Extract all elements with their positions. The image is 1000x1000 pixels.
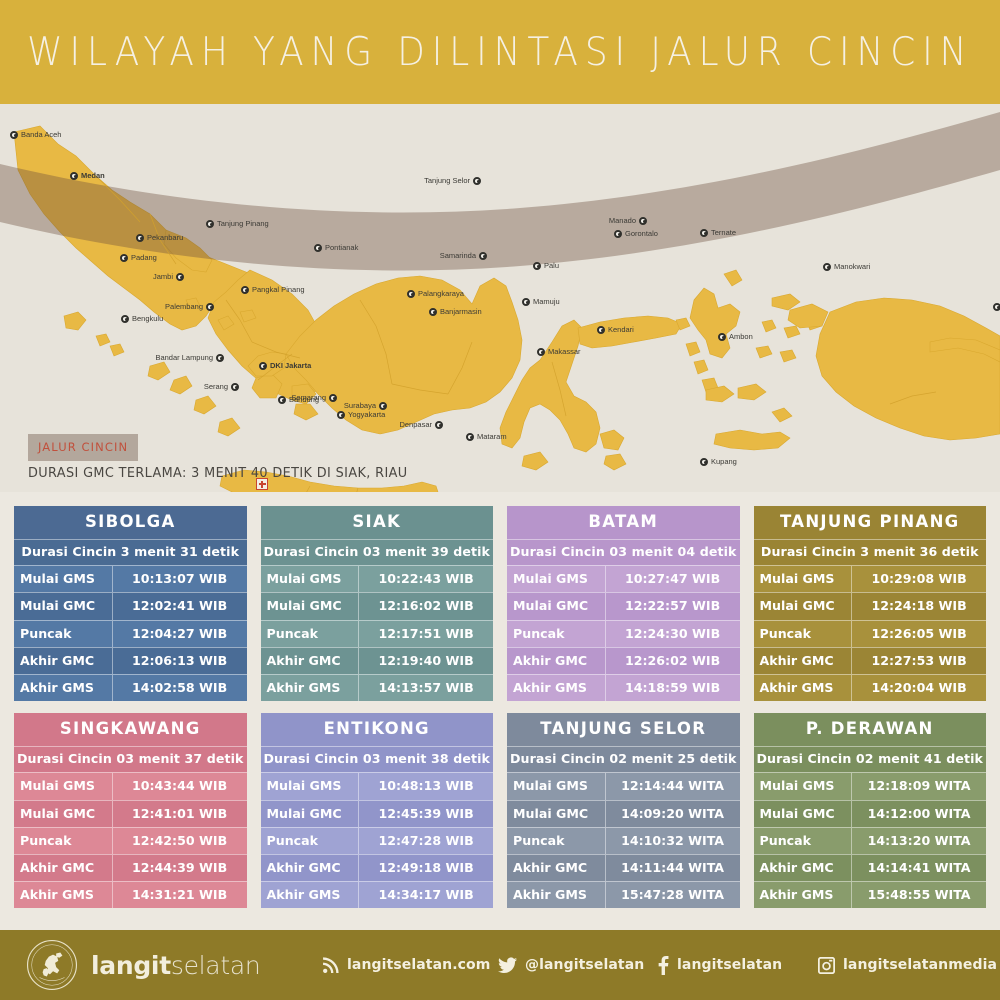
table-row: Mulai GMC12:45:39 WIB: [261, 800, 494, 827]
city-label: Samarinda: [440, 251, 476, 260]
city-marker: Medan: [70, 171, 105, 180]
row-value: 12:47:28 WIB: [358, 828, 493, 854]
city-marker: Palangkaraya: [407, 289, 464, 298]
table-row: Mulai GMS10:22:43 WIB: [261, 565, 494, 592]
map-caption: DURASI GMC TERLAMA: 3 MENIT 40 DETIK DI …: [28, 465, 408, 481]
city-dot-icon: [823, 263, 831, 271]
city-label: Surabaya: [344, 401, 376, 410]
city-dot-icon: [718, 333, 726, 341]
table-row: Akhir GMC12:44:39 WIB: [14, 854, 247, 881]
card-duration: Durasi Cincin 03 menit 38 detik: [261, 746, 494, 773]
city-label: Palangkaraya: [418, 289, 464, 298]
city-label: Tanjung Selor: [424, 176, 470, 185]
row-label: Mulai GMC: [261, 801, 359, 827]
city-marker: Serang: [204, 382, 239, 391]
city-marker: Banda Aceh: [10, 130, 61, 139]
card-duration: Durasi Cincin 02 menit 25 detik: [507, 746, 740, 773]
row-label: Mulai GMC: [754, 801, 852, 827]
table-row: Akhir GMC14:14:41 WITA: [754, 854, 987, 881]
city-marker: Makassar: [537, 347, 581, 356]
row-label: Mulai GMS: [754, 773, 852, 799]
social-instagram[interactable]: langitselatanmedia: [818, 957, 997, 974]
brand-bold: langit: [91, 951, 171, 980]
card-rows: Mulai GMS12:18:09 WITAMulai GMC14:12:00 …: [754, 772, 987, 908]
brand-wordmark: langitselatan: [91, 953, 260, 978]
row-label: Mulai GMS: [261, 566, 359, 592]
social-facebook-label: langitselatan: [677, 957, 782, 973]
city-marker: Palembang: [165, 302, 214, 311]
city-dot-icon: [120, 254, 128, 262]
row-label: Puncak: [754, 621, 852, 647]
city-dot-icon: [314, 244, 322, 252]
row-label: Mulai GMC: [754, 593, 852, 619]
timing-card: P. DERAWANDurasi Cincin 02 menit 41 deti…: [754, 713, 987, 908]
row-value: 10:43:44 WIB: [112, 773, 247, 799]
instagram-icon: [818, 957, 835, 974]
social-twitter-label: @langitselatan: [525, 957, 644, 973]
row-label: Akhir GMC: [261, 648, 359, 674]
city-dot-icon: [136, 234, 144, 242]
city-marker: Semarang: [291, 393, 337, 402]
row-label: Akhir GMS: [507, 882, 605, 908]
row-value: 14:20:04 WIB: [851, 675, 986, 701]
social-instagram-label: langitselatanmedia: [843, 957, 997, 973]
table-row: Puncak12:17:51 WIB: [261, 620, 494, 647]
card-duration: Durasi Cincin 03 menit 39 detik: [261, 539, 494, 566]
table-row: Puncak12:24:30 WIB: [507, 620, 740, 647]
card-duration: Durasi Cincin 02 menit 41 detik: [754, 746, 987, 773]
city-label: Banjarmasin: [440, 307, 482, 316]
city-dot-icon: [407, 290, 415, 298]
row-value: 12:18:09 WITA: [851, 773, 986, 799]
table-row: Mulai GMS10:13:07 WIB: [14, 565, 247, 592]
row-value: 12:49:18 WIB: [358, 855, 493, 881]
city-marker: Pekanbaru: [136, 233, 183, 242]
timing-card: SINGKAWANGDurasi Cincin 03 menit 37 deti…: [14, 713, 247, 908]
social-rss[interactable]: langitselatan.com: [322, 957, 490, 974]
row-value: 10:48:13 WIB: [358, 773, 493, 799]
city-marker: Palu: [533, 261, 559, 270]
rss-icon: [322, 957, 339, 974]
table-row: Akhir GMC12:49:18 WIB: [261, 854, 494, 881]
row-label: Mulai GMS: [261, 773, 359, 799]
row-label: Puncak: [14, 828, 112, 854]
card-rows: Mulai GMS10:13:07 WIBMulai GMC12:02:41 W…: [14, 565, 247, 701]
table-row: Akhir GMS15:48:55 WITA: [754, 881, 987, 908]
table-row: Mulai GMC14:09:20 WITA: [507, 800, 740, 827]
card-rows: Mulai GMS10:43:44 WIBMulai GMC12:41:01 W…: [14, 772, 247, 908]
table-row: Mulai GMS10:29:08 WIB: [754, 565, 987, 592]
card-title: SIBOLGA: [14, 506, 247, 539]
row-label: Akhir GMC: [507, 855, 605, 881]
city-dot-icon: [993, 303, 1000, 311]
city-label: Bandar Lampung: [155, 353, 213, 362]
card-rows: Mulai GMS10:48:13 WIBMulai GMC12:45:39 W…: [261, 772, 494, 908]
table-row: Mulai GMC12:22:57 WIB: [507, 592, 740, 619]
city-dot-icon: [121, 315, 129, 323]
row-value: 15:47:28 WITA: [605, 882, 740, 908]
row-value: 14:34:17 WIB: [358, 882, 493, 908]
city-dot-icon: [329, 394, 337, 402]
row-label: Akhir GMS: [261, 675, 359, 701]
city-label: Ternate: [711, 228, 736, 237]
timing-card: ENTIKONGDurasi Cincin 03 menit 38 detikM…: [261, 713, 494, 908]
row-label: Mulai GMS: [507, 566, 605, 592]
card-rows: Mulai GMS10:22:43 WIBMulai GMC12:16:02 W…: [261, 565, 494, 701]
brand-lockup[interactable]: langitselatan: [26, 939, 260, 991]
row-label: Akhir GMC: [261, 855, 359, 881]
row-value: 14:13:20 WITA: [851, 828, 986, 854]
table-row: Puncak14:10:32 WITA: [507, 827, 740, 854]
city-label: Palembang: [165, 302, 203, 311]
legend-jalur-cincin: JALUR CINCIN: [28, 434, 138, 461]
card-duration: Durasi Cincin 3 menit 31 detik: [14, 539, 247, 566]
header-banner: WILAYAH YANG DILINTASI JALUR CINCIN: [0, 0, 1000, 104]
row-value: 10:22:43 WIB: [358, 566, 493, 592]
city-dot-icon: [700, 458, 708, 466]
city-marker: Kupang: [700, 457, 737, 466]
city-dot-icon: [259, 362, 267, 370]
city-label: Palu: [544, 261, 559, 270]
city-dot-icon: [533, 262, 541, 270]
langitselatan-emblem-icon: [26, 939, 78, 991]
table-row: Mulai GMS10:48:13 WIB: [261, 772, 494, 799]
table-row: Akhir GMS14:31:21 WIB: [14, 881, 247, 908]
table-row: Puncak12:26:05 WIB: [754, 620, 987, 647]
card-duration: Durasi Cincin 03 menit 04 detik: [507, 539, 740, 566]
table-row: Puncak12:42:50 WIB: [14, 827, 247, 854]
card-title: ENTIKONG: [261, 713, 494, 746]
city-label: Pontianak: [325, 243, 358, 252]
table-row: Akhir GMC12:26:02 WIB: [507, 647, 740, 674]
table-row: Akhir GMS14:13:57 WIB: [261, 674, 494, 701]
table-row: Mulai GMC12:41:01 WIB: [14, 800, 247, 827]
row-label: Mulai GMC: [261, 593, 359, 619]
city-marker: Denpasar: [399, 420, 443, 429]
row-label: Puncak: [507, 621, 605, 647]
row-value: 12:24:18 WIB: [851, 593, 986, 619]
card-duration: Durasi Cincin 3 menit 36 detik: [754, 539, 987, 566]
card-rows: Mulai GMS10:27:47 WIBMulai GMC12:22:57 W…: [507, 565, 740, 701]
row-value: 12:41:01 WIB: [112, 801, 247, 827]
city-label: Makassar: [548, 347, 581, 356]
footer-bar: langitselatan langitselatan.com @langits…: [0, 930, 1000, 1000]
row-value: 12:44:39 WIB: [112, 855, 247, 881]
city-label: Padang: [131, 253, 157, 262]
table-row: Mulai GMC12:16:02 WIB: [261, 592, 494, 619]
row-value: 12:14:44 WITA: [605, 773, 740, 799]
city-label: Medan: [81, 171, 105, 180]
card-duration: Durasi Cincin 03 menit 37 detik: [14, 746, 247, 773]
city-marker: Pangkal Pinang: [241, 285, 305, 294]
row-label: Puncak: [507, 828, 605, 854]
city-label: Manado: [609, 216, 636, 225]
table-row: Akhir GMS14:18:59 WIB: [507, 674, 740, 701]
social-facebook[interactable]: langitselatan: [658, 956, 782, 975]
table-row: Mulai GMC12:02:41 WIB: [14, 592, 247, 619]
row-label: Puncak: [754, 828, 852, 854]
legend-label: JALUR CINCIN: [38, 440, 128, 454]
card-rows: Mulai GMS12:14:44 WITAMulai GMC14:09:20 …: [507, 772, 740, 908]
table-row: Mulai GMS12:18:09 WITA: [754, 772, 987, 799]
city-dot-icon: [206, 220, 214, 228]
table-row: Mulai GMS10:27:47 WIB: [507, 565, 740, 592]
row-label: Akhir GMC: [754, 855, 852, 881]
city-marker: Samarinda: [440, 251, 487, 260]
row-label: Akhir GMS: [754, 882, 852, 908]
row-value: 12:26:02 WIB: [605, 648, 740, 674]
table-row: Mulai GMS10:43:44 WIB: [14, 772, 247, 799]
city-marker: Mataram: [466, 432, 507, 441]
city-dot-icon: [278, 396, 286, 404]
row-label: Puncak: [261, 621, 359, 647]
row-value: 10:13:07 WIB: [112, 566, 247, 592]
row-label: Akhir GMS: [261, 882, 359, 908]
row-value: 12:04:27 WIB: [112, 621, 247, 647]
row-label: Akhir GMC: [507, 648, 605, 674]
timing-card: TANJUNG PINANGDurasi Cincin 3 menit 36 d…: [754, 506, 987, 701]
city-label: Denpasar: [399, 420, 432, 429]
city-label: Mamuju: [533, 297, 560, 306]
city-label: Pangkal Pinang: [252, 285, 305, 294]
table-row: Akhir GMS14:34:17 WIB: [261, 881, 494, 908]
city-marker: Jayapura: [993, 302, 1000, 311]
row-value: 14:31:21 WIB: [112, 882, 247, 908]
city-label: Tanjung Pinang: [217, 219, 269, 228]
card-title: SIAK: [261, 506, 494, 539]
row-value: 14:12:00 WITA: [851, 801, 986, 827]
city-marker: Tanjung Pinang: [206, 219, 269, 228]
row-value: 12:24:30 WIB: [605, 621, 740, 647]
city-dot-icon: [597, 326, 605, 334]
infographic-page: WILAYAH YANG DILINTASI JALUR CINCIN: [0, 0, 1000, 1000]
table-row: Akhir GMS14:02:58 WIB: [14, 674, 247, 701]
row-value: 12:06:13 WIB: [112, 648, 247, 674]
row-label: Mulai GMC: [507, 801, 605, 827]
row-label: Akhir GMC: [14, 648, 112, 674]
row-value: 14:13:57 WIB: [358, 675, 493, 701]
card-title: P. DERAWAN: [754, 713, 987, 746]
row-label: Akhir GMC: [754, 648, 852, 674]
card-title: BATAM: [507, 506, 740, 539]
brand-light: selatan: [171, 951, 261, 980]
city-marker: Yogyakarta: [337, 410, 385, 419]
city-dot-icon: [241, 286, 249, 294]
row-value: 12:42:50 WIB: [112, 828, 247, 854]
table-row: Mulai GMS12:14:44 WITA: [507, 772, 740, 799]
row-value: 12:45:39 WIB: [358, 801, 493, 827]
row-value: 10:29:08 WIB: [851, 566, 986, 592]
city-marker: Gorontalo: [614, 229, 658, 238]
card-title: SINGKAWANG: [14, 713, 247, 746]
card-rows: Mulai GMS10:29:08 WIBMulai GMC12:24:18 W…: [754, 565, 987, 701]
row-value: 10:27:47 WIB: [605, 566, 740, 592]
row-value: 12:02:41 WIB: [112, 593, 247, 619]
table-row: Akhir GMC14:11:44 WITA: [507, 854, 740, 881]
city-dot-icon: [522, 298, 530, 306]
table-row: Mulai GMC14:12:00 WITA: [754, 800, 987, 827]
row-value: 14:10:32 WITA: [605, 828, 740, 854]
table-row: Puncak12:47:28 WIB: [261, 827, 494, 854]
row-label: Mulai GMS: [14, 566, 112, 592]
row-label: Mulai GMS: [507, 773, 605, 799]
city-dot-icon: [10, 131, 18, 139]
social-twitter[interactable]: @langitselatan: [498, 957, 644, 974]
city-marker: Tanjung Selor: [424, 176, 481, 185]
city-marker: Bandar Lampung: [155, 353, 224, 362]
timing-card: SIBOLGADurasi Cincin 3 menit 31 detikMul…: [14, 506, 247, 701]
city-marker: Manokwari: [823, 262, 870, 271]
social-rss-label: langitselatan.com: [347, 957, 490, 973]
row-label: Mulai GMS: [14, 773, 112, 799]
city-dot-icon: [614, 230, 622, 238]
city-dot-icon: [479, 252, 487, 260]
city-dot-icon: [206, 303, 214, 311]
row-value: 15:48:55 WITA: [851, 882, 986, 908]
row-value: 12:27:53 WIB: [851, 648, 986, 674]
city-marker: Ternate: [700, 228, 736, 237]
table-row: Mulai GMC12:24:18 WIB: [754, 592, 987, 619]
city-timing-grid: SIBOLGADurasi Cincin 3 menit 31 detikMul…: [14, 506, 986, 908]
city-dot-icon: [537, 348, 545, 356]
city-dot-icon: [435, 421, 443, 429]
timing-card: BATAMDurasi Cincin 03 menit 04 detikMula…: [507, 506, 740, 701]
city-dot-icon: [337, 411, 345, 419]
city-marker: Kendari: [597, 325, 634, 334]
table-row: Akhir GMC12:06:13 WIB: [14, 647, 247, 674]
city-marker: DKI Jakarta: [259, 361, 311, 370]
row-label: Mulai GMS: [754, 566, 852, 592]
city-label: Ambon: [729, 332, 753, 341]
city-marker: Surabaya: [344, 401, 387, 410]
facebook-icon: [658, 956, 669, 975]
row-value: 14:02:58 WIB: [112, 675, 247, 701]
city-label: Mataram: [477, 432, 507, 441]
table-row: Akhir GMS15:47:28 WITA: [507, 881, 740, 908]
row-value: 12:19:40 WIB: [358, 648, 493, 674]
city-marker: Jambi: [153, 272, 184, 281]
row-label: Puncak: [261, 828, 359, 854]
table-row: Akhir GMS14:20:04 WIB: [754, 674, 987, 701]
timing-card: SIAKDurasi Cincin 03 menit 39 detikMulai…: [261, 506, 494, 701]
row-label: Akhir GMS: [754, 675, 852, 701]
table-row: Akhir GMC12:27:53 WIB: [754, 647, 987, 674]
city-dot-icon: [473, 177, 481, 185]
city-dot-icon: [176, 273, 184, 281]
twitter-icon: [498, 957, 517, 974]
city-label: Jambi: [153, 272, 173, 281]
city-label: Bengkulu: [132, 314, 163, 323]
page-title: WILAYAH YANG DILINTASI JALUR CINCIN: [27, 30, 973, 75]
row-value: 14:09:20 WITA: [605, 801, 740, 827]
row-label: Akhir GMS: [507, 675, 605, 701]
row-label: Akhir GMS: [14, 882, 112, 908]
city-dot-icon: [231, 383, 239, 391]
row-label: Puncak: [14, 621, 112, 647]
city-label: Serang: [204, 382, 228, 391]
city-marker: Padang: [120, 253, 157, 262]
row-label: Mulai GMC: [507, 593, 605, 619]
city-label: Kendari: [608, 325, 634, 334]
city-marker: Bengkulu: [121, 314, 163, 323]
table-row: Puncak12:04:27 WIB: [14, 620, 247, 647]
city-marker: Mamuju: [522, 297, 560, 306]
city-marker: Manado: [609, 216, 647, 225]
row-label: Mulai GMC: [14, 593, 112, 619]
city-label: Pekanbaru: [147, 233, 183, 242]
city-label: Gorontalo: [625, 229, 658, 238]
city-label: Yogyakarta: [348, 410, 385, 419]
card-title: TANJUNG PINANG: [754, 506, 987, 539]
timing-card: TANJUNG SELORDurasi Cincin 02 menit 25 d…: [507, 713, 740, 908]
city-marker: Banjarmasin: [429, 307, 482, 316]
table-row: Puncak14:13:20 WITA: [754, 827, 987, 854]
card-title: TANJUNG SELOR: [507, 713, 740, 746]
city-label: Semarang: [291, 393, 326, 402]
city-dot-icon: [70, 172, 78, 180]
map-panel: Banda AcehMedanPekanbaruPadangJambiBengk…: [0, 104, 1000, 492]
city-label: Manokwari: [834, 262, 870, 271]
city-marker: Pontianak: [314, 243, 358, 252]
row-value: 14:11:44 WITA: [605, 855, 740, 881]
row-value: 14:18:59 WIB: [605, 675, 740, 701]
row-label: Akhir GMS: [14, 675, 112, 701]
row-value: 12:16:02 WIB: [358, 593, 493, 619]
city-dot-icon: [700, 229, 708, 237]
table-row: Akhir GMC12:19:40 WIB: [261, 647, 494, 674]
row-label: Mulai GMC: [14, 801, 112, 827]
row-label: Akhir GMC: [14, 855, 112, 881]
city-dot-icon: [466, 433, 474, 441]
row-value: 12:17:51 WIB: [358, 621, 493, 647]
city-label: Kupang: [711, 457, 737, 466]
city-label: Banda Aceh: [21, 130, 61, 139]
city-dot-icon: [379, 402, 387, 410]
city-label: DKI Jakarta: [270, 361, 311, 370]
row-value: 14:14:41 WITA: [851, 855, 986, 881]
row-value: 12:26:05 WIB: [851, 621, 986, 647]
city-dot-icon: [429, 308, 437, 316]
row-value: 12:22:57 WIB: [605, 593, 740, 619]
city-dot-icon: [216, 354, 224, 362]
city-dot-icon: [639, 217, 647, 225]
city-marker: Ambon: [718, 332, 753, 341]
